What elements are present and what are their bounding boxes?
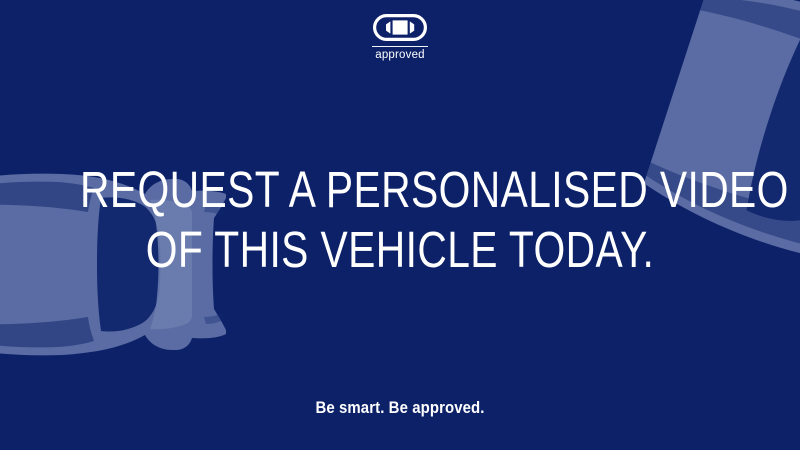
- headline: REQUEST A PERSONALISED VIDEO OF THIS VEH…: [80, 160, 720, 280]
- approved-car-badge-icon: [373, 14, 427, 41]
- logo-divider-rule: [372, 46, 428, 47]
- promotional-banner: approved REQUEST A PERSONALISED VIDEO OF…: [0, 0, 800, 450]
- logo-wordmark: approved: [375, 50, 425, 62]
- approved-logo: approved: [0, 14, 800, 62]
- headline-line-2: OF THIS VEHICLE TODAY.: [80, 220, 720, 280]
- headline-line-1: REQUEST A PERSONALISED VIDEO: [80, 160, 720, 220]
- tagline: Be smart. Be approved.: [48, 398, 752, 418]
